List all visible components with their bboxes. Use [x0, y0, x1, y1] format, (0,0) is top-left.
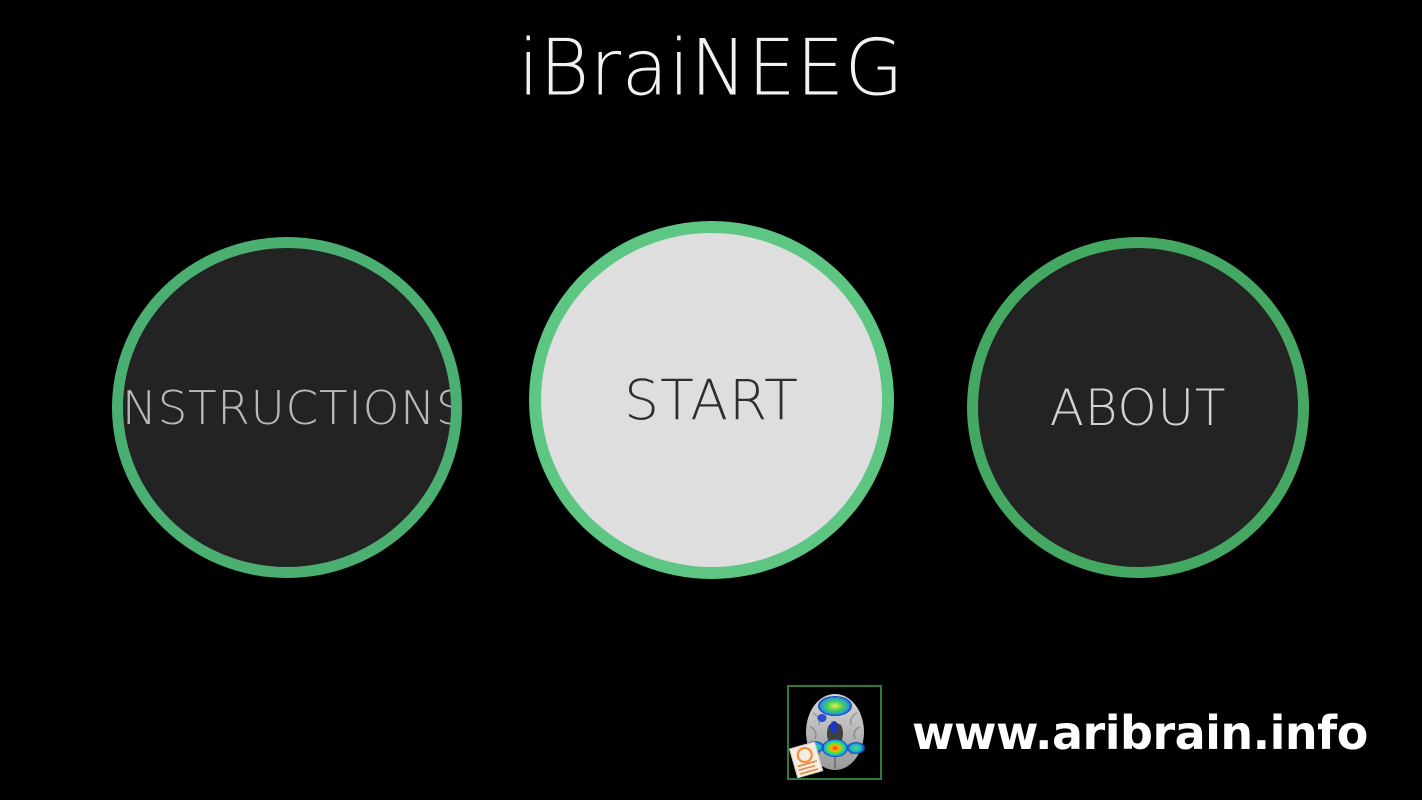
brain-scan-logo-icon: [787, 685, 882, 780]
start-button-label: START: [624, 373, 799, 428]
instructions-button[interactable]: INSTRUCTIONS: [112, 237, 462, 578]
about-button[interactable]: ABOUT: [967, 237, 1309, 578]
page-title: iBraiNEEG: [0, 27, 1422, 108]
start-button[interactable]: START: [529, 221, 894, 579]
website-url-label: www.aribrain.info: [912, 710, 1368, 756]
footer-branding: www.aribrain.info: [787, 685, 1368, 780]
about-button-label: ABOUT: [1050, 383, 1227, 433]
instructions-button-label: INSTRUCTIONS: [112, 385, 462, 431]
app-screen: iBraiNEEG INSTRUCTIONS START ABOUT: [0, 0, 1422, 800]
